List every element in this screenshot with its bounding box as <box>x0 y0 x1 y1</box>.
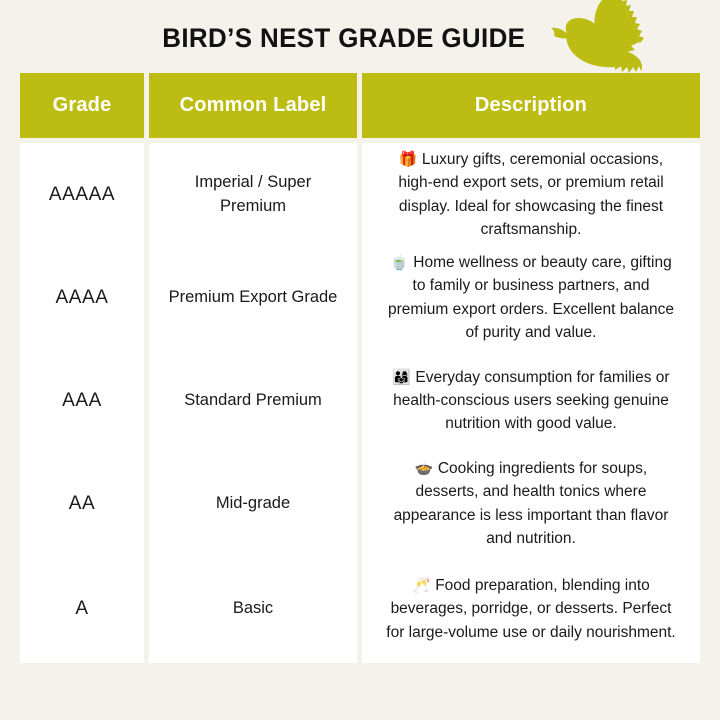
common-label-value: Premium Export Grade <box>163 286 344 310</box>
cell-description: 👨‍👩‍👧 Everyday consumption for families … <box>362 349 700 452</box>
table-row: AAAA Premium Export Grade 🍵 Home wellnes… <box>20 246 700 349</box>
description-value: 🍲 Cooking ingredients for soups, dessert… <box>372 457 690 550</box>
grade-value: AAAAA <box>49 184 115 206</box>
cell-common-label: Mid-grade <box>149 452 357 555</box>
common-label-value: Mid-grade <box>210 492 296 516</box>
family-emoji: 👨‍👩‍👧 <box>392 368 411 386</box>
grade-value: AAA <box>62 390 102 412</box>
table-row: AAAAA Imperial / Super Premium 🎁 Luxury … <box>20 143 700 246</box>
description-text: Luxury gifts, ceremonial occasions, high… <box>398 151 663 238</box>
column-header-grade: Grade <box>20 73 144 138</box>
description-value: 🥂 Food preparation, blending into bevera… <box>372 574 690 644</box>
common-label-value: Standard Premium <box>178 389 328 413</box>
cell-description: 🎁 Luxury gifts, ceremonial occasions, hi… <box>362 143 700 246</box>
description-value: 🎁 Luxury gifts, ceremonial occasions, hi… <box>372 148 690 241</box>
page-title: BIRD’S NEST GRADE GUIDE <box>162 19 558 54</box>
common-label-value: Basic <box>227 597 279 621</box>
grade-value: A <box>75 598 88 620</box>
table-body: AAAAA Imperial / Super Premium 🎁 Luxury … <box>20 143 700 663</box>
description-value: 👨‍👩‍👧 Everyday consumption for families … <box>372 366 690 436</box>
table-row: AA Mid-grade 🍲 Cooking ingredients for s… <box>20 452 700 555</box>
description-text: Everyday consumption for families or hea… <box>393 369 669 433</box>
grade-value: AAAA <box>55 287 108 309</box>
cell-common-label: Premium Export Grade <box>149 246 357 349</box>
cell-grade: AAA <box>20 349 144 452</box>
cell-grade: AA <box>20 452 144 555</box>
cell-common-label: Basic <box>149 555 357 663</box>
table-header-row: Grade Common Label Description <box>20 73 700 138</box>
pot-of-food-emoji: 🍲 <box>415 459 434 477</box>
column-header-common-label: Common Label <box>149 73 357 138</box>
grade-value: AA <box>69 493 96 515</box>
cell-grade: AAAA <box>20 246 144 349</box>
cell-grade: AAAAA <box>20 143 144 246</box>
clinking-glasses-emoji: 🥂 <box>412 576 431 594</box>
grade-table: Grade Common Label Description AAAAA Imp… <box>20 73 700 663</box>
column-header-description: Description <box>362 73 700 138</box>
cell-description: 🥂 Food preparation, blending into bevera… <box>362 555 700 663</box>
description-text: Cooking ingredients for soups, desserts,… <box>394 460 669 547</box>
dove-icon <box>543 0 665 78</box>
cell-common-label: Imperial / Super Premium <box>149 143 357 246</box>
cell-description: 🍵 Home wellness or beauty care, gifting … <box>362 246 700 349</box>
description-value: 🍵 Home wellness or beauty care, gifting … <box>372 251 690 344</box>
table-row: A Basic 🥂 Food preparation, blending int… <box>20 555 700 663</box>
header-area: BIRD’S NEST GRADE GUIDE <box>0 0 720 73</box>
description-text: Home wellness or beauty care, gifting to… <box>388 254 674 341</box>
teacup-emoji: 🍵 <box>390 253 409 271</box>
cell-common-label: Standard Premium <box>149 349 357 452</box>
cell-description: 🍲 Cooking ingredients for soups, dessert… <box>362 452 700 555</box>
cell-grade: A <box>20 555 144 663</box>
table-row: AAA Standard Premium 👨‍👩‍👧 Everyday cons… <box>20 349 700 452</box>
common-label-value: Imperial / Super Premium <box>159 171 347 219</box>
gift-emoji: 🎁 <box>399 150 418 168</box>
